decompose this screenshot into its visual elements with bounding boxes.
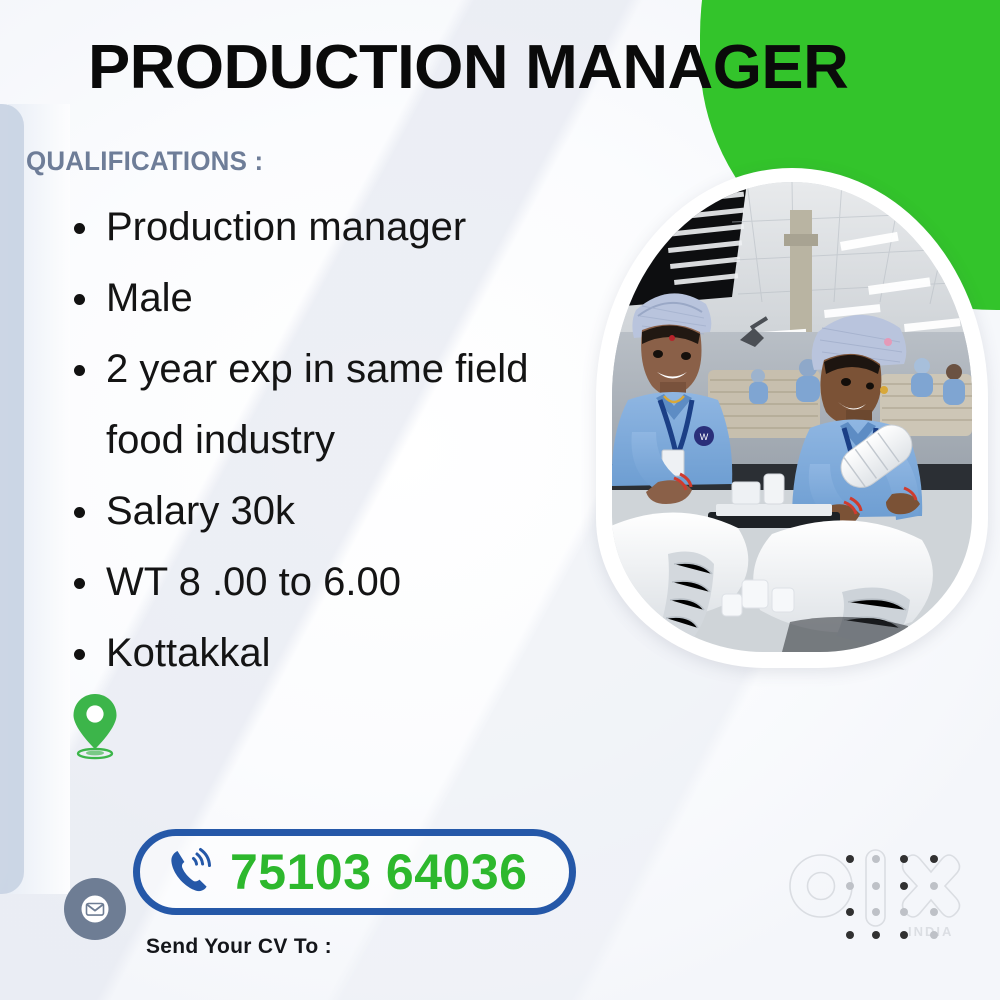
list-item: Salary 30k [60,476,620,547]
qualifications-heading: QUALIFICATIONS : [26,146,263,177]
list-item: 2 year exp in same field food industry [60,334,620,476]
photo-frame: W [596,168,988,668]
list-item: Kottakkal [60,618,620,689]
location-pin-icon [70,692,120,762]
job-poster: PRODUCTION MANAGER QUALIFICATIONS : Prod… [0,0,1000,1000]
envelope-icon [78,892,112,926]
list-item: Male [60,263,620,334]
phone-ringing-icon [164,845,218,899]
phone-number: 75103 64036 [230,843,527,901]
phone-contact-pill[interactable]: 75103 64036 [133,829,576,915]
left-accent-panel [0,104,24,894]
email-icon-badge[interactable] [64,878,126,940]
qualifications-list: Production manager Male 2 year exp in sa… [60,192,620,689]
olx-watermark: INDIA [788,836,968,956]
send-cv-label: Send Your CV To : [146,935,332,959]
page-title: PRODUCTION MANAGER [88,32,848,103]
factory-workers-photo: W [612,182,972,652]
list-item: Production manager [60,192,620,263]
svg-text:W: W [700,432,709,442]
list-item: WT 8 .00 to 6.00 [60,547,620,618]
